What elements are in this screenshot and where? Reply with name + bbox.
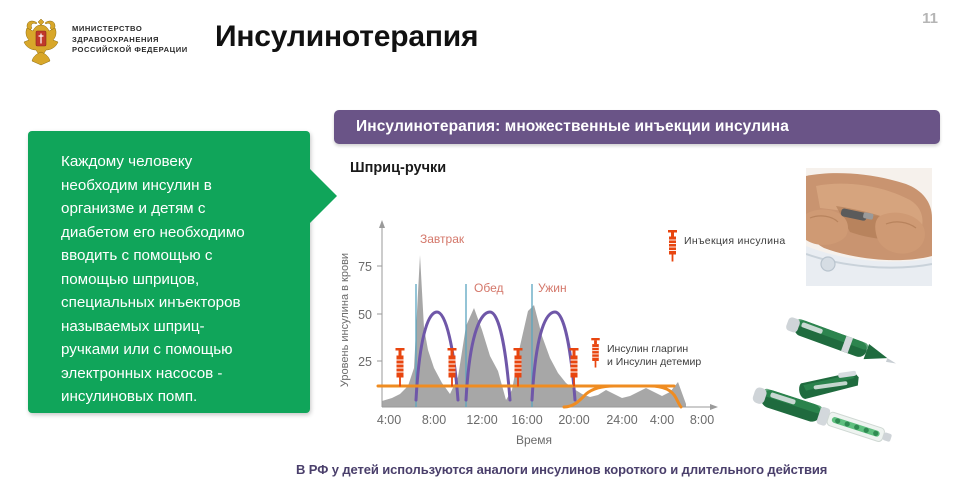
x-tick-label-7: 8:00 [690,413,714,427]
x-tick-label-5: 24:00 [606,413,637,427]
chart-subtitle: Шприц-ручки [350,160,446,176]
ministry-line-3: РОССИЙСКОЙ ФЕДЕРАЦИИ [72,45,188,56]
injection-photo-illustration [806,168,932,286]
callout-box: Каждому человеку необходим инсулин в орг… [28,131,310,413]
page-title: Инсулинотерапия [215,20,478,54]
meal-label-breakfast: Завтрак [420,232,465,246]
syringe-icon [667,230,678,262]
syringe-icon [590,338,601,368]
x-tick-label-0: 4:00 [377,413,401,427]
y-tick-label-25: 25 [358,355,372,369]
callout-text: Каждому человеку необходим инсулин в орг… [61,150,295,409]
y-tick-marks [377,266,382,361]
ministry-line-1: МИНИСТЕРСТВО [72,24,188,35]
meal-label-dinner: Ужин [538,281,567,295]
pens-photo-illustration [740,296,940,448]
legend-label-injection: Инъекция инсулина [684,230,786,248]
x-axis-arrow [710,404,718,410]
meal-label-lunch: Обед [474,281,503,295]
x-tick-label-4: 20:00 [558,413,589,427]
green-insulin-pens-photo [740,296,940,448]
section-banner-label: Инсулинотерапия: множественные инъекции … [356,118,789,136]
callout-arrow-tail [309,168,337,224]
russian-coat-of-arms-icon [18,14,64,66]
x-tick-label-3: 16:00 [511,413,542,427]
section-banner: Инсулинотерапия: множественные инъекции … [334,110,940,144]
y-axis-label: Уровень инсулина в крови [339,253,351,387]
footer-caption: В РФ у детей используются аналоги инсули… [296,462,827,477]
ministry-logo: МИНИСТЕРСТВО ЗДРАВООХРАНЕНИЯ РОССИЙСКОЙ … [18,12,208,68]
y-tick-label-75: 75 [358,260,372,274]
insulin-profile-chart: 25 50 75 Уровень инсулина в крови Завтра… [334,208,724,450]
syringe-icon [396,348,405,387]
y-tick-label-50: 50 [358,308,372,322]
x-axis-label: Время [516,433,552,447]
ministry-line-2: ЗДРАВООХРАНЕНИЯ [72,35,188,46]
legend-item-injection: Инъекция инсулина [667,230,786,262]
insulin-injection-abdomen-photo [806,168,932,286]
legend-label-basal-insulin: Инсулин гларгин и Инсулин детемир [607,338,701,369]
legend-item-basal-insulin: Инсулин гларгин и Инсулин детемир [590,338,701,369]
chart-svg: 25 50 75 Уровень инсулина в крови Завтра… [334,208,724,450]
x-tick-label-6: 4:00 [650,413,674,427]
x-tick-label-1: 8:00 [422,413,446,427]
y-axis-arrow [379,220,385,228]
x-tick-label-2: 12:00 [466,413,497,427]
slide-number: 11 [922,10,938,27]
ministry-name: МИНИСТЕРСТВО ЗДРАВООХРАНЕНИЯ РОССИЙСКОЙ … [72,24,188,56]
